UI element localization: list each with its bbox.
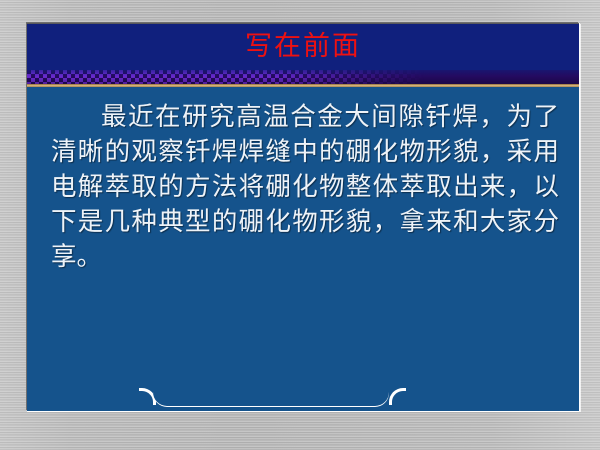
slide-content-panel: 写在前面 最近在研究高温合金大间隙钎焊，为了清晰的观察钎焊焊缝中的硼化物形貌，采…	[27, 23, 579, 411]
checkerboard-divider	[27, 70, 579, 84]
slide-bottom-tab	[153, 388, 389, 406]
gold-divider-rule	[27, 84, 579, 87]
presentation-slide: 写在前面 最近在研究高温合金大间隙钎焊，为了清晰的观察钎焊焊缝中的硼化物形貌，采…	[0, 0, 600, 450]
slide-title: 写在前面	[27, 23, 579, 70]
slide-title-band: 写在前面	[27, 23, 579, 70]
slide-body-text: 最近在研究高温合金大间隙钎焊，为了清晰的观察钎焊焊缝中的硼化物形貌，采用电解萃取…	[51, 99, 559, 274]
checkerboard-shading	[27, 70, 579, 84]
